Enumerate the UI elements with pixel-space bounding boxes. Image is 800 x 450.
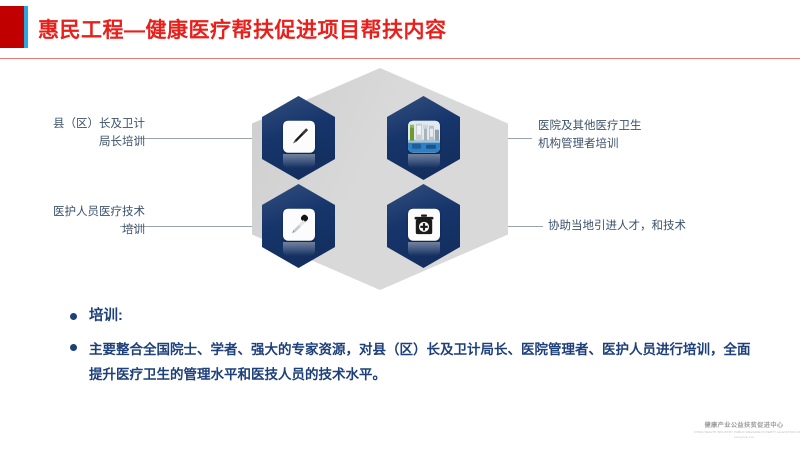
node-label-top-left: 县（区）长及卫计 局长培训 [0,116,145,152]
dropper-icon [283,209,315,241]
watermark-url: www.jkcyfp.com [694,435,794,439]
watermark-name: 健康产业公益扶贫促进中心 [694,420,794,429]
icon-reflection [283,242,315,256]
header-red-block [0,6,24,48]
bullet-body-text: 主要整合全国院士、学者、强大的专家资源，对县（区）长及卫计局长、医院管理者、医护… [89,337,761,388]
watermark-subtitle: CHINA HEALTH INDUSTRY PUBLIC WELFARE POV… [694,430,794,434]
bullet-dot-icon [70,344,77,351]
header-cyan-stripe [24,6,28,48]
bullet-heading-text: 培训: [89,306,123,328]
lab-equipment-icon [408,121,440,153]
icon-reflection [408,154,440,168]
bullet-list: 培训: 主要整合全国院士、学者、强大的专家资源，对县（区）长及卫计局长、医院管理… [70,306,770,397]
icon-reflection [408,242,440,256]
bullet-item-body: 主要整合全国院士、学者、强大的专家资源，对县（区）长及卫计局长、医院管理者、医护… [70,337,770,388]
node-label-bottom-left: 医护人员医疗技术 培训 [0,204,145,240]
bullet-item-heading: 培训: [70,306,770,328]
header-divider [0,58,800,59]
node-label-bottom-left-line1: 医护人员医疗技术 [0,204,145,222]
scalpel-icon [283,121,315,153]
medical-kit-icon [408,209,440,241]
icon-reflection [283,154,315,168]
node-label-top-right-line1: 医院及其他医疗卫生 [538,118,642,136]
node-label-top-left-line2: 局长培训 [0,134,145,152]
page-title: 惠民工程—健康医疗帮扶促进项目帮扶内容 [38,14,447,44]
node-label-top-right: 医院及其他医疗卫生 机构管理者培训 [538,118,642,154]
node-label-top-right-line2: 机构管理者培训 [538,136,642,154]
node-label-bottom-left-line2: 培训 [0,222,145,240]
bullet-dot-icon [70,313,77,320]
node-label-bottom-right: 协助当地引进人才，和技术 [548,218,686,236]
slide-root: 惠民工程—健康医疗帮扶促进项目帮扶内容 县（区）长及卫计 局长培训 医护人员医疗… [0,0,800,450]
watermark-logo: 健康产业公益扶贫促进中心 CHINA HEALTH INDUSTRY PUBLI… [694,420,794,439]
node-label-bottom-right-line1: 协助当地引进人才，和技术 [548,218,686,236]
hexagon-diagram [230,60,530,290]
node-label-top-left-line1: 县（区）长及卫计 [0,116,145,134]
